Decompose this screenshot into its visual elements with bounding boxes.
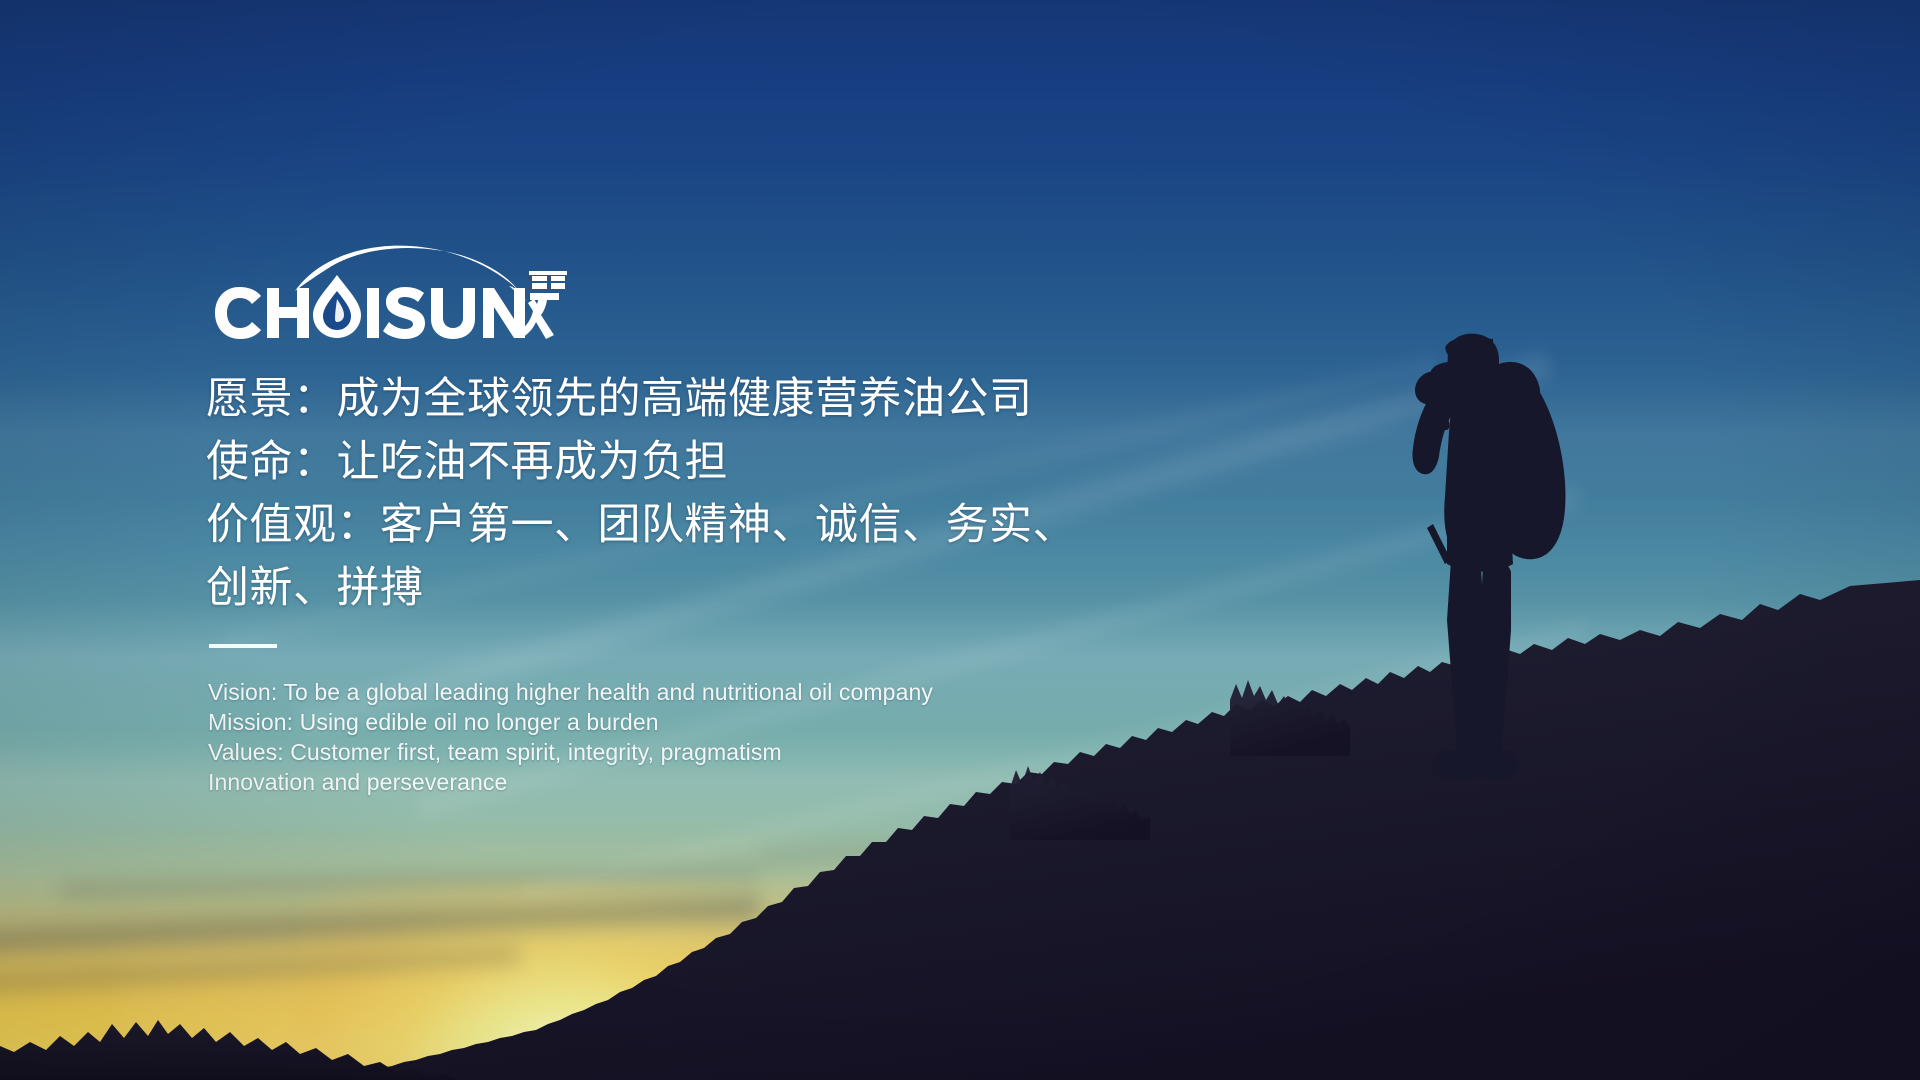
logo-wordmark-text [215, 275, 525, 339]
en-line-values-cont: Innovation and perseverance [208, 767, 1208, 797]
cn-line-mission: 使命：让吃油不再成为负担 [206, 431, 1206, 494]
brand-logo[interactable] [207, 243, 567, 339]
water-droplet-icon [313, 275, 361, 338]
section-divider [209, 644, 277, 648]
slide-canvas: 愿景：成为全球领先的高端健康营养油公司 使命：让吃油不再成为负担 价值观：客户第… [0, 0, 1920, 1080]
mission-statement-en: Vision: To be a global leading higher he… [208, 677, 1208, 797]
mission-statement-cn: 愿景：成为全球领先的高端健康营养油公司 使命：让吃油不再成为负担 价值观：客户第… [206, 368, 1206, 620]
cn-line-values-cont: 创新、拼搏 [206, 557, 1206, 620]
cn-line-vision: 愿景：成为全球领先的高端健康营养油公司 [206, 368, 1206, 431]
logo-cjk-text [518, 271, 567, 339]
cn-line-values: 价值观：客户第一、团队精神、诚信、务实、 [206, 494, 1206, 557]
en-line-values: Values: Customer first, team spirit, int… [208, 737, 1208, 767]
en-line-mission: Mission: Using edible oil no longer a bu… [208, 707, 1208, 737]
en-line-vision: Vision: To be a global leading higher he… [208, 677, 1208, 707]
